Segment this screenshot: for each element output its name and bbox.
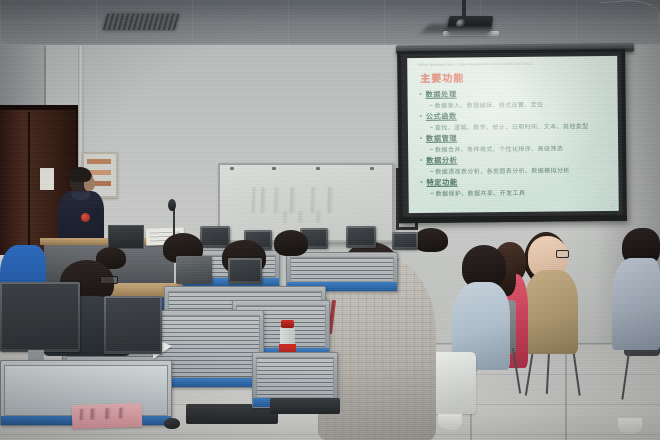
wall-conduit <box>80 46 84 166</box>
presenter-hair <box>69 167 91 182</box>
bullet-detail: 查找、逻辑、数学、统计、日期时间、文本、其他类型 <box>435 121 610 132</box>
projector-icon <box>447 16 494 33</box>
cabinet-notice-paper <box>40 168 54 190</box>
slide-bullet-list: 数据处理 数据录入、数据编辑、格式设置、定位 公式函数 查找、逻辑、数学、统计、… <box>419 88 611 198</box>
slide-bullet-item: 数据管理 数据合并、条件格式、个性化排序、高级筛选 <box>419 132 610 154</box>
whiteboard-erased-writing <box>250 187 360 213</box>
whiteboard-clip <box>316 167 320 170</box>
chair-seat-edge <box>438 414 462 430</box>
monitor <box>228 258 262 284</box>
slide-bullet-item: 特定功能 数据保护、数据共享、开发工具 <box>419 176 610 198</box>
monitor-screen <box>2 284 78 349</box>
slide-bullet-item: 数据处理 数据录入、数据编辑、格式设置、定位 <box>419 88 610 110</box>
bullet-heading: 数据分析 <box>426 154 610 166</box>
monitor <box>200 226 230 248</box>
chair-seat-edge <box>618 418 642 434</box>
whiteboard-clip <box>230 167 234 170</box>
whiteboard-clip <box>272 167 276 170</box>
monitor <box>176 256 212 284</box>
whiteboard-clip <box>370 167 374 170</box>
handwritten-note <box>78 407 130 420</box>
bullet-heading: 公式函数 <box>426 110 610 122</box>
bullet-heading: 数据处理 <box>426 88 610 100</box>
mouse-icon <box>164 418 180 429</box>
slide-title: 主要功能 <box>420 68 609 85</box>
bullet-detail: 数据透视表分析、各类图表分析、数据模拟分析 <box>435 165 610 176</box>
monitor <box>104 296 162 354</box>
cubicle-glass-panel <box>256 357 334 398</box>
monitor-screen <box>230 260 260 281</box>
attendee-back-head <box>274 230 308 256</box>
eyeglasses-icon <box>556 250 569 258</box>
bullet-detail: 数据保护、数据共享、开发工具 <box>436 187 611 198</box>
monitor-screen <box>348 228 374 245</box>
classroom-photo-scene: Office Business Tools · Data Management … <box>0 0 660 440</box>
bullet-heading: 数据管理 <box>426 132 610 144</box>
slide-bullet-item: 公式函数 查找、逻辑、数学、统计、日期时间、文本、其他类型 <box>419 110 610 132</box>
podium-laptop <box>108 225 144 249</box>
bottle-cap <box>281 320 294 328</box>
monitor-screen <box>202 228 228 245</box>
microphone-icon <box>168 199 176 211</box>
monitor <box>0 282 80 352</box>
eyeglasses-icon <box>100 276 118 284</box>
poster-band <box>87 159 111 164</box>
keyboard-icon <box>270 398 340 414</box>
whiteboard-erased-writing <box>280 211 340 223</box>
attendee-back-head <box>414 228 448 252</box>
slide-header-text: Office Business Tools · Data Management … <box>418 61 609 67</box>
ceiling-wire <box>599 0 660 29</box>
air-vent-icon <box>103 14 180 30</box>
slide-bullet-item: 数据分析 数据透视表分析、各类图表分析、数据模拟分析 <box>419 154 610 176</box>
cubicle-glass-panel <box>290 257 394 282</box>
monitor-screen <box>394 234 416 247</box>
monitor-screen <box>106 298 160 351</box>
projection-screen: Office Business Tools · Data Management … <box>397 49 627 223</box>
monitor-screen <box>178 258 210 281</box>
monitor <box>346 226 376 248</box>
slide-page-number: 1 <box>612 204 614 208</box>
attendee-tan-jacket <box>524 270 578 354</box>
floor-tile-seam <box>565 344 567 440</box>
bullet-heading: 特定功能 <box>426 176 610 188</box>
presenter-collar <box>72 192 90 200</box>
bullet-detail: 数据录入、数据编辑、格式设置、定位 <box>435 99 610 110</box>
attendee-right-blue-shirt <box>612 258 660 350</box>
pink-label-card <box>72 403 143 429</box>
presentation-slide: Office Business Tools · Data Management … <box>407 56 619 213</box>
ceiling-tile-grid <box>0 0 660 46</box>
bullet-detail: 数据合并、条件格式、个性化排序、高级筛选 <box>435 143 610 154</box>
presenter-shirt-logo <box>81 213 90 222</box>
monitor <box>392 232 418 250</box>
screen-surface: Office Business Tools · Data Management … <box>407 56 619 213</box>
white-folding-chair <box>432 352 476 414</box>
projector-lens-icon <box>455 19 465 28</box>
